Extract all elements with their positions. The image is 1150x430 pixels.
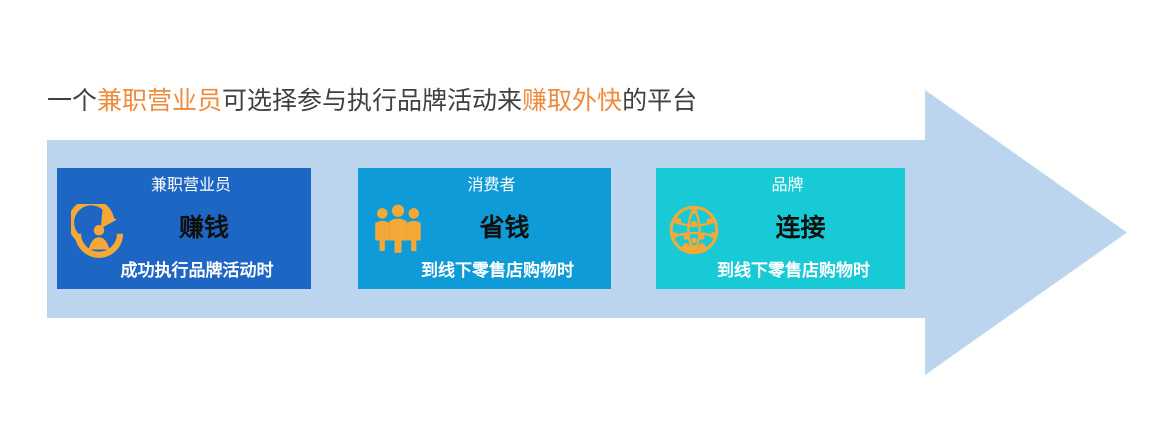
card-footnote-label: 到线下零售店购物时 [656,259,905,283]
slide-canvas: 一个兼职营业员可选择参与执行品牌活动来赚取外快的平台 兼职营业员 赚钱 成功执行… [0,0,1150,430]
card-value-label: 连接 [656,212,905,246]
card-footnote-label: 到线下零售店购物时 [358,259,611,283]
headline-segment-plain-1: 一个 [47,88,97,115]
headline-segment-highlight-1: 兼职营业员 [97,88,222,115]
card-footnote-label: 成功执行品牌活动时 [57,259,311,283]
card-value-label: 赚钱 [57,212,311,246]
headline: 一个兼职营业员可选择参与执行品牌活动来赚取外快的平台 [47,86,697,118]
card-header-label: 品牌 [656,175,905,197]
card-brand[interactable]: 品牌 连接 到线下零售店购物时 [656,168,905,289]
card-consumer[interactable]: 消费者 省钱 到线下零售店购物时 [358,168,611,289]
headline-segment-plain-2: 可选择参与执行品牌活动来 [222,88,522,115]
card-header-label: 兼职营业员 [57,175,311,197]
card-value-label: 省钱 [358,212,611,246]
headline-segment-highlight-2: 赚取外快 [522,88,622,115]
headline-segment-plain-3: 的平台 [622,88,697,115]
card-part-time-clerk[interactable]: 兼职营业员 赚钱 成功执行品牌活动时 [57,168,311,289]
card-header-label: 消费者 [358,175,611,197]
